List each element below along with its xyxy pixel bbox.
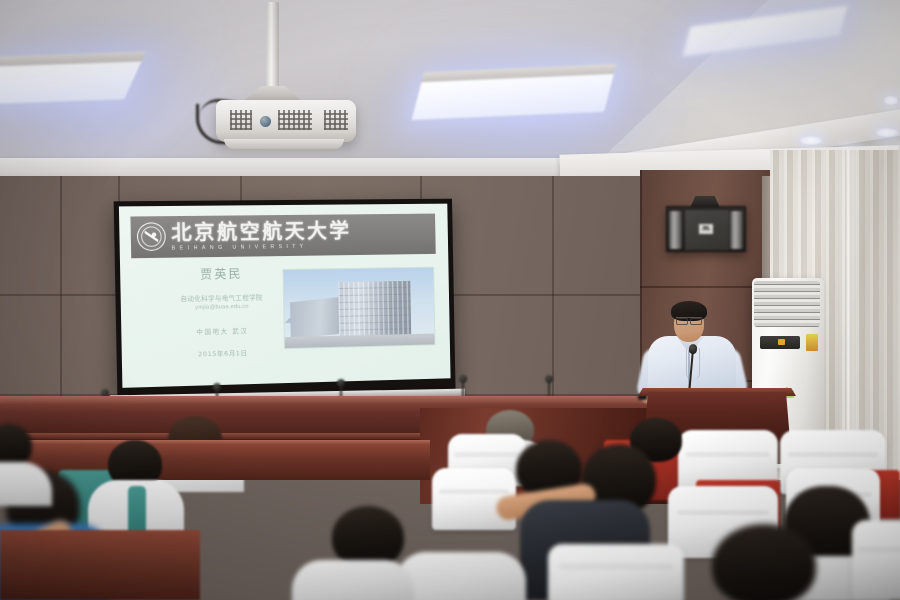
event-date: 2015年6月1日 [145, 346, 298, 359]
slide-building-photo [283, 267, 436, 350]
slide-header-band: 北京航空航天大学 BEIHANG UNIVERSITY [130, 213, 436, 258]
projector-base [224, 139, 344, 149]
audience-head [712, 524, 816, 600]
ceiling-light-1 [0, 59, 142, 104]
university-name-cn: 北京航空航天大学 [171, 220, 351, 242]
screen-frame: 北京航空航天大学 BEIHANG UNIVERSITY 贾英民 自动化科学与电气… [114, 199, 456, 402]
downlight-icon [884, 96, 898, 105]
downlight-icon [800, 136, 822, 145]
audience-torso [292, 560, 414, 600]
presenter-email: ymjia@buaa.edu.cn [145, 303, 298, 312]
chair-cover [852, 520, 900, 600]
wall-speaker: JBL [666, 206, 746, 252]
presenter-department: 自动化科学与电气工程学院 [144, 292, 297, 304]
audience-head [332, 506, 404, 568]
slide-text-block: 贾英民 自动化科学与电气工程学院 ymjia@buaa.edu.cn 中国地大 … [144, 264, 299, 360]
projector-lens-icon [260, 116, 271, 127]
downlight-icon [876, 128, 898, 137]
jbl-logo: JBL [699, 224, 713, 234]
projector [216, 100, 356, 142]
presenter-glasses-icon [676, 317, 702, 322]
ac-energy-label [806, 334, 818, 351]
projector-vent [324, 110, 348, 130]
university-name-en: BEIHANG UNIVERSITY [172, 243, 352, 251]
lecture-hall-photo: 北京航空航天大学 BEIHANG UNIVERSITY 贾英民 自动化科学与电气… [0, 0, 900, 600]
event-location: 中国地大 武汉 [145, 325, 298, 338]
projector-vent [278, 110, 312, 130]
presentation-slide: 北京航空航天大学 BEIHANG UNIVERSITY 贾英民 自动化科学与电气… [119, 204, 451, 388]
chair-cover [548, 544, 684, 600]
projection-screen: 北京航空航天大学 BEIHANG UNIVERSITY 贾英民 自动化科学与电气… [114, 199, 456, 402]
presenter-name: 贾英民 [144, 264, 298, 284]
projector-vent [230, 110, 252, 130]
projector-mount-pole [266, 2, 279, 90]
curtain-light-gap [845, 150, 852, 470]
buaa-seal-logo-icon [136, 223, 165, 252]
audience-torso [396, 552, 526, 600]
ac-display-panel[interactable] [760, 336, 800, 349]
audience-desk-front [0, 530, 200, 600]
ac-vent-grille [754, 281, 820, 327]
